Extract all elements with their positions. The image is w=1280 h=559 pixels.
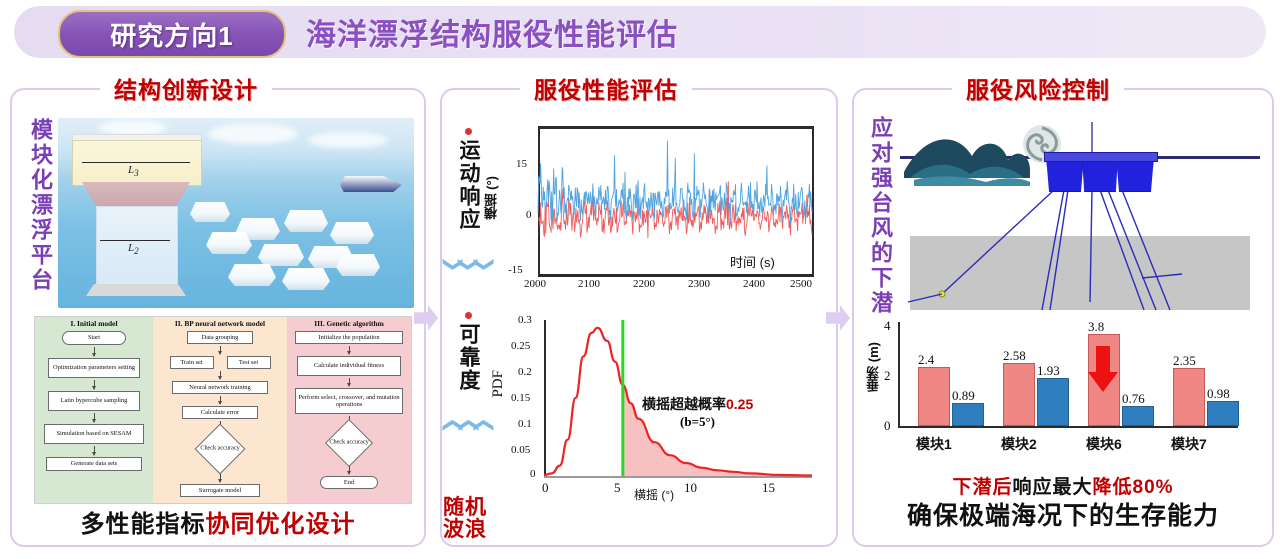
flow-node: Calculate individual fitness xyxy=(297,356,401,376)
platform-base xyxy=(86,284,186,296)
panel-structure-innovation: 结构创新设计 模块化漂浮平台 L3 L2 I. Initial model St… xyxy=(10,88,426,547)
panel3-title: 服役风险控制 xyxy=(952,70,1124,106)
panel1-caption: 多性能指标协同优化设计 xyxy=(12,504,424,539)
header-bar: 研究方向1 海洋漂浮结构服役性能评估 xyxy=(14,6,1266,58)
ts-plot-svg xyxy=(494,104,824,300)
bar-value-label: 0.98 xyxy=(1207,386,1230,402)
chevron-down-icon: ❯❯❯ xyxy=(445,244,492,284)
flow-heading-3: III. Genetic algorithm xyxy=(291,320,407,328)
optimization-flowchart: I. Initial model Start Optimization para… xyxy=(34,316,412,504)
bar-ytick-0: 0 xyxy=(884,418,891,434)
bar-category-label: 模块2 xyxy=(1001,434,1037,454)
bar-模块6-series2 xyxy=(1122,406,1154,426)
flow-node: Latin hypercube sampling xyxy=(48,391,140,411)
bar-value-label: 2.35 xyxy=(1173,353,1196,369)
bar-value-label: 2.58 xyxy=(1003,348,1026,364)
bar-value-label: 1.93 xyxy=(1037,363,1060,379)
flow-decision: Check accuracy xyxy=(195,424,246,475)
panel-service-performance: 服役性能评估 运动响应 ❯❯❯ 可靠度 ❯❯❯ 随机波浪 15 0 -15 横摇… xyxy=(440,88,838,547)
badge-label: 研究方向1 xyxy=(110,16,233,53)
bar-category-label: 模块7 xyxy=(1171,434,1207,454)
pdf-annotation-text: 横摇超越概率 xyxy=(642,396,726,412)
flow-node: Surrogate model xyxy=(180,484,260,497)
flow-column-initial-model: I. Initial model Start Optimization para… xyxy=(35,317,153,503)
pdf-annotation: 横摇超越概率0.25 xyxy=(642,394,753,414)
bar-模块7-series1 xyxy=(1173,368,1205,426)
chart-heave-comparison: 4 2 0 垂荡 (m) 2.40.89模块12.581.93模块23.80.7… xyxy=(870,318,1262,458)
bar-模块1-series2 xyxy=(952,403,984,426)
flow-decision: Check accuracy xyxy=(325,419,373,467)
bar-category-label: 模块1 xyxy=(916,434,952,454)
flow-node: Start xyxy=(62,331,126,345)
panel3-side-label: 应对强台风的下潜 xyxy=(864,116,896,316)
panel3-caption-line1: 下潜后响应最大降低80% xyxy=(854,472,1272,499)
panel3-caption-black: 响应最大 xyxy=(1012,477,1092,498)
flow-node: Perform select, crossover, and mutation … xyxy=(295,388,403,414)
flow-node: Generate data sets xyxy=(46,457,142,471)
panel1-title: 结构创新设计 xyxy=(100,70,272,106)
bar-value-label: 2.4 xyxy=(918,352,934,368)
dimension-label-l3: L3 xyxy=(128,164,139,178)
bar-category-label: 模块6 xyxy=(1086,434,1122,454)
bar-ytick-4: 4 xyxy=(884,318,891,334)
panel3-caption-red-a: 下潜后 xyxy=(952,477,1012,498)
flow-node: End xyxy=(320,476,378,489)
step-label-reliability: 可靠度 xyxy=(453,323,483,392)
platform-transition xyxy=(82,182,190,208)
panel1-side-label: 模块化漂浮平台 xyxy=(24,118,56,293)
panel1-caption-black: 多性能指标 xyxy=(81,511,206,538)
flow-column-genetic-algorithm: III. Genetic algorithm Initialize the po… xyxy=(287,317,411,503)
flow-node: Data grouping xyxy=(187,331,253,344)
chevron-up-icon: ❯❯❯ xyxy=(445,405,492,445)
page-title: 海洋漂浮结构服役性能评估 xyxy=(306,13,678,51)
research-direction-badge: 研究方向1 xyxy=(58,10,286,58)
decrease-arrow-icon xyxy=(1086,346,1126,396)
flow-node: Simulation based on SESAM xyxy=(44,424,144,444)
bar-value-label: 0.89 xyxy=(952,388,975,404)
bullet-dot-icon xyxy=(465,128,472,135)
panel-risk-control: 服役风险控制 应对强台风的下潜 xyxy=(852,88,1274,547)
flow-node: Initialize the population xyxy=(295,331,403,344)
flow-node: Neural network training xyxy=(172,381,268,394)
bar-模块1-series1 xyxy=(918,367,950,426)
wave-icon xyxy=(904,139,1030,186)
vessel-icon xyxy=(340,176,402,192)
panel2-title: 服役性能评估 xyxy=(520,70,692,106)
panel1-caption-red: 协同优化设计 xyxy=(206,511,356,538)
pdf-annotation-value: 0.25 xyxy=(726,396,753,412)
mooring-lines xyxy=(942,190,1182,310)
flow-node: Test set xyxy=(227,356,271,369)
dimension-label-l2: L2 xyxy=(128,242,139,256)
bullet-dot-icon xyxy=(465,312,472,319)
module-deck xyxy=(1044,152,1158,162)
step-label-motion-response: 运动响应 xyxy=(453,139,483,231)
bar-ytick-2: 2 xyxy=(884,368,891,384)
bar-value-label: 3.8 xyxy=(1088,319,1104,335)
floating-platform-illustration: L3 L2 xyxy=(58,118,414,308)
pdf-annotation-sub: (b=5°) xyxy=(680,414,715,430)
flow-node: Optimization parameters setting xyxy=(48,358,140,378)
random-wave-label: 随机波浪 xyxy=(442,497,488,541)
flow-column-bp-network: II. BP neural network model Data groupin… xyxy=(153,317,287,503)
chart-roll-pdf: 0.3 0.25 0.2 0.15 0.1 0.05 0 PDF 0 5 10 … xyxy=(494,308,824,504)
platform-deck xyxy=(72,140,202,186)
bar-模块7-series2 xyxy=(1207,401,1239,426)
chart-roll-time-series: 15 0 -15 横摇 (°) 2000 2100 2200 2300 2400… xyxy=(494,104,824,300)
bar-模块2-series2 xyxy=(1037,378,1069,426)
flow-node: Train set xyxy=(170,356,214,369)
panel3-caption-red-b: 降低80% xyxy=(1093,477,1174,498)
bar-模块2-series1 xyxy=(1003,363,1035,426)
flow-heading-1: I. Initial model xyxy=(39,320,149,328)
wave-and-typhoon-svg xyxy=(894,112,1266,310)
flow-node: Calculate error xyxy=(182,406,258,419)
submersion-illustration xyxy=(894,112,1266,310)
bar-yaxis-label: 垂荡 (m) xyxy=(864,342,883,392)
panel2-step-rail: 运动响应 ❯❯❯ 可靠度 ❯❯❯ xyxy=(448,106,488,526)
panel3-caption-line2: 确保极端海况下的生存能力 xyxy=(854,496,1272,532)
flow-heading-2: II. BP neural network model xyxy=(157,320,283,328)
